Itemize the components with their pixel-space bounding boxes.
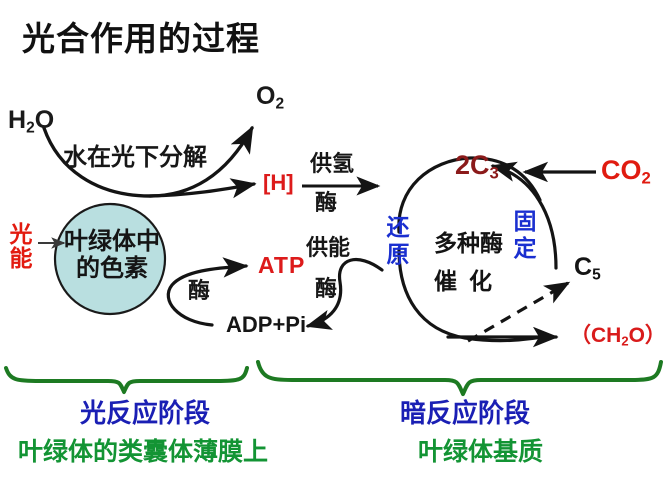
water-formula-tail: O	[35, 106, 54, 134]
c5-subscript: 5	[592, 266, 601, 283]
adp-pi-label: ADP+Pi	[226, 314, 306, 336]
carbohydrate-open: （CH	[570, 324, 621, 347]
atp-label: ATP	[258, 254, 305, 277]
co2-formula: CO	[601, 155, 642, 185]
c3-label: 2C3	[455, 152, 499, 182]
photosynthesis-diagram: 光合作用的过程 H2O O2 水在光下分解 光能 叶绿体中的色素 [H] ATP…	[0, 0, 667, 500]
reduction-label: 还原	[385, 214, 411, 268]
light-reaction-stage-location: 叶绿体的类囊体薄膜上	[18, 440, 268, 465]
c5-formula: C	[574, 253, 592, 281]
enzyme-label-atp-synthesis: 酶	[188, 280, 210, 302]
enzymes-catalysis-line2: 催化	[434, 270, 504, 293]
carbohydrate-label: （CH2O）	[570, 325, 666, 348]
c3-formula: 2C	[455, 150, 490, 180]
carbohydrate-subscript: 2	[621, 334, 628, 349]
supply-hydrogen-label: 供氢	[310, 153, 354, 175]
water-label: H2O	[8, 108, 54, 136]
water-formula: H	[8, 106, 26, 134]
chloroplast-pigment-label: 叶绿体中的色素	[64, 229, 160, 283]
water-split-label: 水在光下分解	[63, 146, 207, 170]
page-title: 光合作用的过程	[22, 22, 260, 55]
diagram-text-layer: 光合作用的过程 H2O O2 水在光下分解 光能 叶绿体中的色素 [H] ATP…	[0, 0, 667, 500]
enzymes-catalysis-line1: 多种酶	[434, 232, 503, 255]
fixation-label: 固定	[512, 208, 538, 262]
dark-reaction-stage-name: 暗反应阶段	[400, 400, 530, 426]
c5-label: C5	[574, 255, 601, 283]
dark-reaction-stage-location: 叶绿体基质	[418, 440, 543, 465]
co2-label: CO2	[601, 157, 651, 187]
oxygen-formula: O	[256, 82, 275, 110]
enzyme-label-hydrogen: 酶	[315, 192, 337, 214]
oxygen-label: O2	[256, 84, 284, 112]
carbohydrate-close: O）	[629, 324, 666, 347]
c3-subscript: 3	[490, 164, 499, 183]
light-reaction-stage-name: 光反应阶段	[80, 400, 210, 426]
co2-subscript: 2	[642, 169, 651, 188]
oxygen-subscript: 2	[275, 95, 284, 112]
supply-energy-label: 供能	[306, 237, 350, 259]
light-energy-label: 光能	[8, 222, 34, 270]
enzyme-label-energy: 酶	[315, 278, 337, 300]
nadph-label: [H]	[263, 172, 294, 194]
water-subscript: 2	[26, 119, 35, 136]
